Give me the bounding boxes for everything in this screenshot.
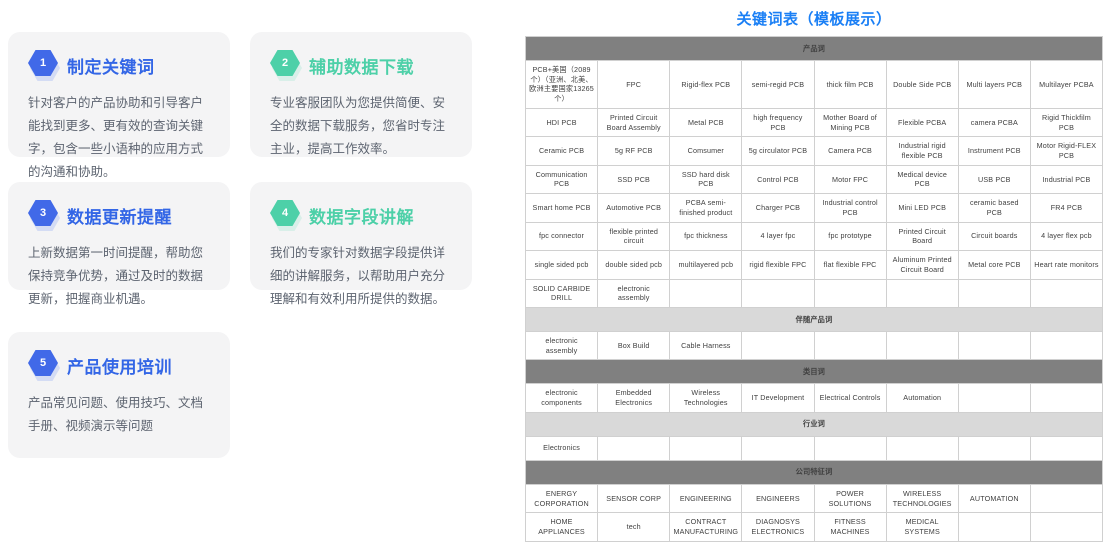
keyword-cell: FPC (598, 61, 670, 109)
keyword-cell: SSD hard disk PCB (670, 165, 742, 193)
keyword-cell: double sided pcb (598, 251, 670, 279)
section-header-row: 产品词 (526, 37, 1103, 61)
keyword-cell: Cable Harness (670, 331, 742, 359)
service-card-header: 2辅助数据下载 (270, 50, 452, 80)
keyword-cell: Aluminum Printed Circuit Board (886, 251, 958, 279)
keyword-cell: Communication PCB (526, 165, 598, 193)
section-header-1: 伴随产品词 (526, 307, 1103, 331)
keyword-cell: 5g circulator PCB (742, 137, 814, 165)
empty-cell (958, 513, 1030, 541)
keyword-cell: FR4 PCB (1030, 194, 1102, 222)
section-header-row: 伴随产品词 (526, 307, 1103, 331)
table-row: PCB+美国（2089个）（亚洲、北美、欧洲主要国家13265个）FPCRigi… (526, 61, 1103, 109)
keyword-cell: 4 layer fpc (742, 222, 814, 250)
keyword-cell: MEDICAL SYSTEMS (886, 513, 958, 541)
keyword-cell: Industrial control PCB (814, 194, 886, 222)
keyword-cell: Multi layers PCB (958, 61, 1030, 109)
hexagon-badge-icon: 1 (28, 50, 58, 80)
keyword-cell: ENGINEERING (670, 484, 742, 512)
empty-cell (598, 436, 670, 460)
empty-cell (670, 436, 742, 460)
keyword-cell: Instrument PCB (958, 137, 1030, 165)
keyword-cell: Ceramic PCB (526, 137, 598, 165)
empty-cell (958, 279, 1030, 307)
service-card-header: 1制定关键词 (28, 50, 210, 80)
service-card-3: 3数据更新提醒上新数据第一时间提醒，帮助您保持竞争优势，通过及时的数据更新，把握… (8, 182, 230, 290)
keyword-cell: electronic assembly (526, 331, 598, 359)
hexagon-badge-icon: 2 (270, 50, 300, 80)
empty-cell (958, 436, 1030, 460)
keyword-cell: SSD PCB (598, 165, 670, 193)
keyword-cell: Smart home PCB (526, 194, 598, 222)
keyword-cell: multilayered pcb (670, 251, 742, 279)
keyword-cell: flexible printed circuit (598, 222, 670, 250)
keyword-cell: HOME APPLIANCES (526, 513, 598, 541)
keyword-cell: flat flexible FPC (814, 251, 886, 279)
keyword-cell: ENGINEERS (742, 484, 814, 512)
keyword-cell: Medical device PCB (886, 165, 958, 193)
section-header-4: 公司特征词 (526, 460, 1103, 484)
keyword-cell: Heart rate monitors (1030, 251, 1102, 279)
keyword-cell: semi-regid PCB (742, 61, 814, 109)
empty-cell (886, 331, 958, 359)
section-header-row: 类目词 (526, 360, 1103, 384)
keyword-cell: Embedded Electronics (598, 384, 670, 412)
table-row: electronic componentsEmbedded Electronic… (526, 384, 1103, 412)
keyword-cell: Double Side PCB (886, 61, 958, 109)
keyword-cell: Automation (886, 384, 958, 412)
keyword-cell: FITNESS MACHINES (814, 513, 886, 541)
empty-cell (814, 279, 886, 307)
keyword-cell: WIRELESS TECHNOLOGIES (886, 484, 958, 512)
keyword-cell: Printed Circuit Board Assembly (598, 108, 670, 136)
keyword-cell: ENERGY CORPORATION (526, 484, 598, 512)
keyword-cell: DIAGNOSYS ELECTRONICS (742, 513, 814, 541)
table-row: HOME APPLIANCEStechCONTRACT MANUFACTURIN… (526, 513, 1103, 541)
section-header-2: 类目词 (526, 360, 1103, 384)
empty-cell (958, 331, 1030, 359)
keyword-table-panel: 关键词表（模板展示） 产品词PCB+美国（2089个）（亚洲、北美、欧洲主要国家… (525, 0, 1103, 486)
keyword-cell: Multilayer PCBA (1030, 61, 1102, 109)
section-header-row: 行业词 (526, 412, 1103, 436)
keyword-cell: Flexible PCBA (886, 108, 958, 136)
keyword-cell: Automotive PCB (598, 194, 670, 222)
keyword-cell: fpc thickness (670, 222, 742, 250)
keyword-cell: Metal core PCB (958, 251, 1030, 279)
empty-cell (1030, 513, 1102, 541)
keyword-cell: Rigid Thickfilm PCB (1030, 108, 1102, 136)
keyword-cell: USB PCB (958, 165, 1030, 193)
service-card-4: 4数据字段讲解我们的专家针对数据字段提供详细的讲解服务，以帮助用户充分理解和有效… (250, 182, 472, 290)
service-card-header: 3数据更新提醒 (28, 200, 210, 230)
keyword-cell: Mother Board of Mining PCB (814, 108, 886, 136)
keyword-cell: 4 layer flex pcb (1030, 222, 1102, 250)
keyword-cell: AUTOMATION (958, 484, 1030, 512)
empty-cell (814, 331, 886, 359)
keyword-cell: camera PCBA (958, 108, 1030, 136)
keyword-cell: thick film PCB (814, 61, 886, 109)
page-title: 关键词表（模板展示） (525, 0, 1103, 36)
service-card-title: 制定关键词 (67, 53, 155, 78)
table-row: Electronics (526, 436, 1103, 460)
empty-cell (886, 436, 958, 460)
keyword-cell: Camera PCB (814, 137, 886, 165)
service-card-description: 专业客服团队为您提供简便、安全的数据下载服务，您省时专注主业，提高工作效率。 (270, 92, 452, 161)
empty-cell (886, 279, 958, 307)
keyword-table: 产品词PCB+美国（2089个）（亚洲、北美、欧洲主要国家13265个）FPCR… (525, 36, 1103, 542)
table-row: electronic assemblyBox BuildCable Harnes… (526, 331, 1103, 359)
keyword-cell: Box Build (598, 331, 670, 359)
empty-cell (670, 279, 742, 307)
empty-cell (1030, 484, 1102, 512)
keyword-cell: Electronics (526, 436, 598, 460)
keyword-cell: Circuit boards (958, 222, 1030, 250)
service-card-header: 5产品使用培训 (28, 350, 210, 380)
keyword-cell: electronic assembly (598, 279, 670, 307)
keyword-cell: tech (598, 513, 670, 541)
section-header-row: 公司特征词 (526, 460, 1103, 484)
keyword-cell: Printed Circuit Board (886, 222, 958, 250)
keyword-cell: SOLID CARBIDE DRILL (526, 279, 598, 307)
keyword-cell: Electrical Controls (814, 384, 886, 412)
section-header-3: 行业词 (526, 412, 1103, 436)
table-row: Communication PCBSSD PCBSSD hard disk PC… (526, 165, 1103, 193)
keyword-cell: ceramic based PCB (958, 194, 1030, 222)
service-card-header: 4数据字段讲解 (270, 200, 452, 230)
keyword-cell: Industrial PCB (1030, 165, 1102, 193)
keyword-cell: Metal PCB (670, 108, 742, 136)
empty-cell (742, 436, 814, 460)
table-row: Ceramic PCB5g RF PCBComsumer5g circulato… (526, 137, 1103, 165)
keyword-cell: single sided pcb (526, 251, 598, 279)
service-card-5: 5产品使用培训产品常见问题、使用技巧、文档手册、视频演示等问题 (8, 332, 230, 458)
keyword-cell: Industrial rigid flexible PCB (886, 137, 958, 165)
service-card-title: 数据字段讲解 (309, 203, 414, 228)
keyword-cell: Charger PCB (742, 194, 814, 222)
empty-cell (814, 436, 886, 460)
empty-cell (742, 331, 814, 359)
service-cards-panel: 1制定关键词针对客户的产品协助和引导客户能找到更多、更有效的查询关键字，包含一些… (0, 0, 500, 486)
service-card-description: 我们的专家针对数据字段提供详细的讲解服务，以帮助用户充分理解和有效利用所提供的数… (270, 242, 452, 311)
service-card-2: 2辅助数据下载专业客服团队为您提供简便、安全的数据下载服务，您省时专注主业，提高… (250, 32, 472, 157)
keyword-cell: Wireless Technologies (670, 384, 742, 412)
table-row: fpc connectorflexible printed circuitfpc… (526, 222, 1103, 250)
keyword-cell: HDI PCB (526, 108, 598, 136)
section-header-0: 产品词 (526, 37, 1103, 61)
keyword-cell: PCBA semi-finished product (670, 194, 742, 222)
keyword-cell: Motor Rigid-FLEX PCB (1030, 137, 1102, 165)
table-row: SOLID CARBIDE DRILLelectronic assembly (526, 279, 1103, 307)
service-card-title: 辅助数据下载 (309, 53, 414, 78)
keyword-cell: Control PCB (742, 165, 814, 193)
service-card-title: 产品使用培训 (67, 353, 172, 378)
empty-cell (1030, 384, 1102, 412)
keyword-link-cell[interactable]: fpc connector (526, 222, 598, 250)
service-card-description: 上新数据第一时间提醒，帮助您保持竞争优势，通过及时的数据更新，把握商业机遇。 (28, 242, 210, 311)
keyword-cell: Mini LED PCB (886, 194, 958, 222)
hexagon-badge-icon: 5 (28, 350, 58, 380)
service-card-description: 针对客户的产品协助和引导客户能找到更多、更有效的查询关键字，包含一些小语种的应用… (28, 92, 210, 185)
keyword-cell: Motor FPC (814, 165, 886, 193)
keyword-cell: rigid flexible FPC (742, 251, 814, 279)
keyword-cell: electronic components (526, 384, 598, 412)
keyword-cell: Rigid-flex PCB (670, 61, 742, 109)
empty-cell (1030, 436, 1102, 460)
keyword-cell: Comsumer (670, 137, 742, 165)
empty-cell (1030, 279, 1102, 307)
keyword-cell: high frequency PCB (742, 108, 814, 136)
keyword-cell: PCB+美国（2089个）（亚洲、北美、欧洲主要国家13265个） (526, 61, 598, 109)
hexagon-badge-icon: 4 (270, 200, 300, 230)
table-row: Smart home PCBAutomotive PCBPCBA semi-fi… (526, 194, 1103, 222)
keyword-cell: IT Development (742, 384, 814, 412)
empty-cell (1030, 331, 1102, 359)
service-card-1: 1制定关键词针对客户的产品协助和引导客户能找到更多、更有效的查询关键字，包含一些… (8, 32, 230, 157)
table-row: ENERGY CORPORATIONSENSOR CORPENGINEERING… (526, 484, 1103, 512)
table-row: single sided pcbdouble sided pcbmultilay… (526, 251, 1103, 279)
keyword-cell: POWER SOLUTIONS (814, 484, 886, 512)
empty-cell (742, 279, 814, 307)
table-row: HDI PCBPrinted Circuit Board AssemblyMet… (526, 108, 1103, 136)
keyword-cell: fpc prototype (814, 222, 886, 250)
keyword-cell: CONTRACT MANUFACTURING (670, 513, 742, 541)
service-card-description: 产品常见问题、使用技巧、文档手册、视频演示等问题 (28, 392, 210, 438)
empty-cell (958, 384, 1030, 412)
keyword-cell: 5g RF PCB (598, 137, 670, 165)
hexagon-badge-icon: 3 (28, 200, 58, 230)
keyword-cell: SENSOR CORP (598, 484, 670, 512)
service-card-title: 数据更新提醒 (67, 203, 172, 228)
